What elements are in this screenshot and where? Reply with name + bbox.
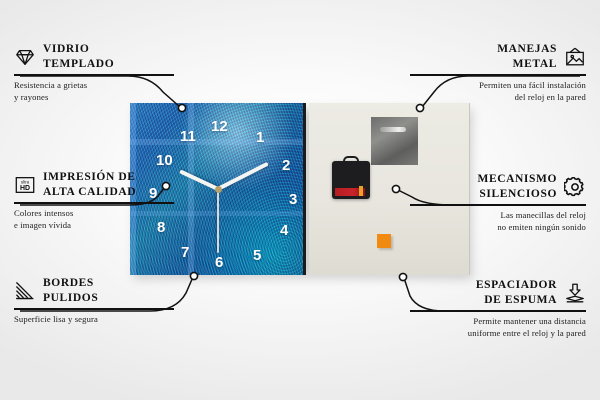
foam-spacer xyxy=(377,234,391,248)
diamond-icon xyxy=(14,46,36,68)
clock-numeral-6: 6 xyxy=(215,255,223,270)
callout-manejas-metal: MANEJAS METAL Permiten una fácil instala… xyxy=(410,42,586,103)
callout-rule xyxy=(14,74,174,76)
callout-desc-line1: Permiten una fácil instalación xyxy=(410,80,586,92)
gear-icon xyxy=(564,176,586,198)
callout-rule xyxy=(14,308,174,310)
callout-title-line1: ESPACIADOR xyxy=(476,278,557,293)
callout-desc-line1: Colores intensos xyxy=(14,208,174,220)
clock-numeral-7: 7 xyxy=(181,245,189,260)
callout-title-line1: MECANISMO xyxy=(477,172,557,187)
callout-bordes-pulidos: BORDES PULIDOS Superficie lisa y segura xyxy=(14,276,174,326)
callout-title-line1: VIDRIO xyxy=(43,42,114,57)
callout-title-line2: PULIDOS xyxy=(43,291,98,306)
clock-numeral-1: 1 xyxy=(256,130,264,145)
callout-desc-line2: y rayones xyxy=(14,92,174,104)
callout-rule xyxy=(410,204,586,206)
callout-impresion-alta-calidad: ultra HD IMPRESIÓN DE ALTA CALIDAD Color… xyxy=(14,170,174,231)
clock-numeral-12: 12 xyxy=(211,119,228,134)
callout-vidrio-templado: VIDRIO TEMPLADO Resistencia a grietas y … xyxy=(14,42,174,103)
callout-title-line2: ALTA CALIDAD xyxy=(43,185,136,200)
callout-rule xyxy=(410,310,586,312)
callout-desc-line2: del reloj en la pared xyxy=(410,92,586,104)
callout-title-line2: DE ESPUMA xyxy=(476,293,557,308)
callout-desc-line2: uniforme entre el reloj y la pared xyxy=(410,328,586,340)
callout-rule xyxy=(14,202,174,204)
callout-desc-line2: e imagen vívida xyxy=(14,220,174,232)
callout-espaciador-de-espuma: ESPACIADOR DE ESPUMA Permite mantener un… xyxy=(410,278,586,339)
clock-numeral-4: 4 xyxy=(280,223,288,238)
polished-edge-icon xyxy=(14,280,36,302)
metal-hanger-plate xyxy=(371,117,418,165)
callout-rule xyxy=(410,74,586,76)
callout-desc-line1: Resistencia a grietas xyxy=(14,80,174,92)
clock-second-hand xyxy=(217,189,218,253)
callout-desc-line2: no emiten ningún sonido xyxy=(410,222,586,234)
clock-numeral-5: 5 xyxy=(253,248,261,263)
svg-text:ultra: ultra xyxy=(21,179,30,184)
callout-title-line2: SILENCIOSO xyxy=(477,187,557,202)
callout-title-line1: IMPRESIÓN DE xyxy=(43,170,136,185)
clock-numeral-10: 10 xyxy=(156,153,173,168)
clock-center-cap xyxy=(215,186,222,193)
hanger-slot xyxy=(380,127,406,132)
clock-numeral-3: 3 xyxy=(289,192,297,207)
picture-frame-hanger-icon xyxy=(564,46,586,68)
mechanism-hook xyxy=(343,156,359,164)
callout-title-line1: BORDES xyxy=(43,276,98,291)
ultra-hd-icon: ultra HD xyxy=(14,174,36,196)
battery-label xyxy=(335,188,365,196)
foam-spacer-arrow-icon xyxy=(564,282,586,304)
callout-desc-line1: Las manecillas del reloj xyxy=(410,210,586,222)
svg-text:HD: HD xyxy=(20,185,30,192)
callout-mecanismo-silencioso: MECANISMO SILENCIOSO Las manecillas del … xyxy=(410,172,586,233)
clock-mechanism xyxy=(332,161,370,199)
callout-desc-line1: Superficie lisa y segura xyxy=(14,314,174,326)
clock-numeral-11: 11 xyxy=(180,129,196,144)
callout-title-line1: MANEJAS xyxy=(497,42,557,57)
callout-desc-line1: Permite mantener una distancia xyxy=(410,316,586,328)
callout-title-line2: TEMPLADO xyxy=(43,57,114,72)
clock-numeral-2: 2 xyxy=(282,158,290,173)
callout-title-line2: METAL xyxy=(497,57,557,72)
